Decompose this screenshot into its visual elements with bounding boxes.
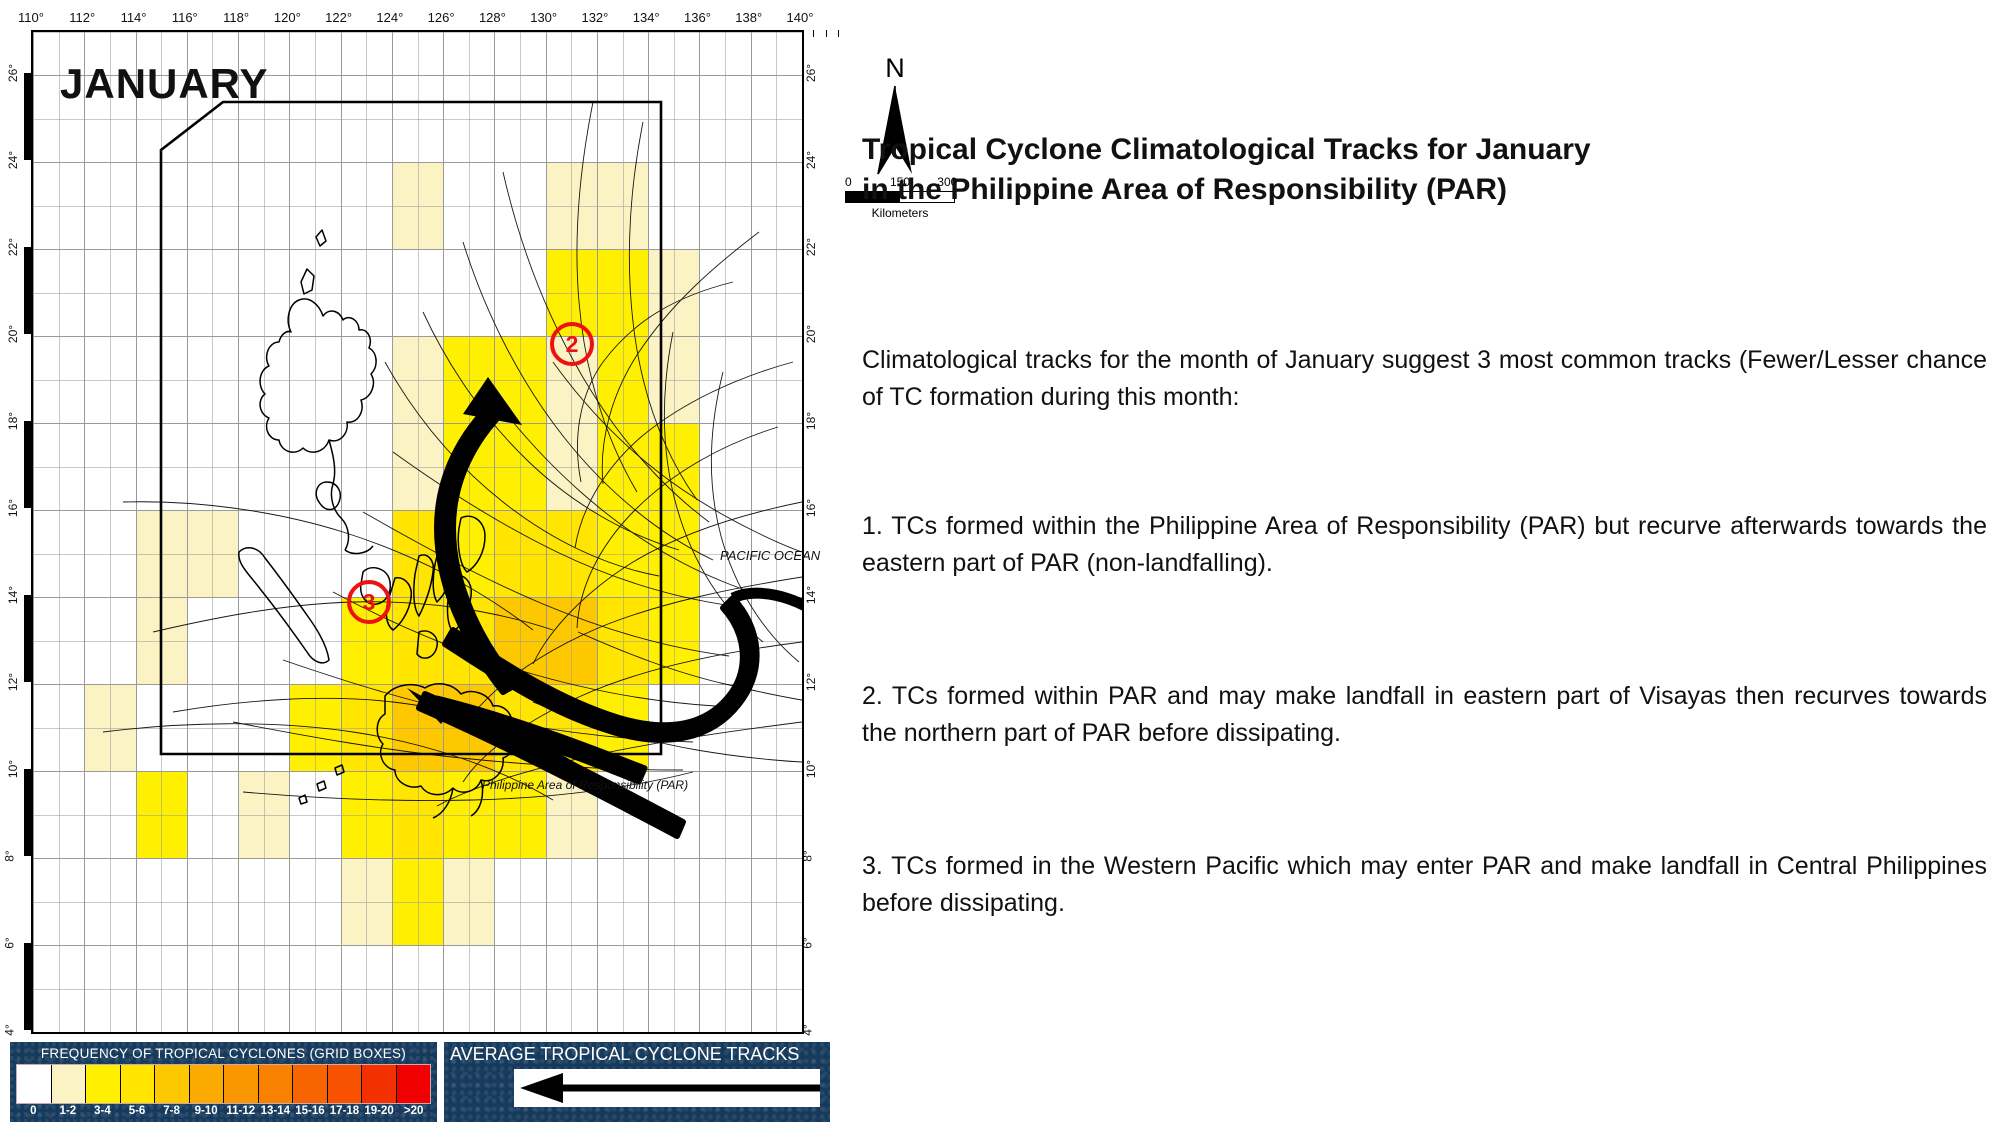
latitude-tick-label: 20°	[804, 325, 818, 343]
page-title-line2: in the Philippine Area of Responsibility…	[862, 173, 1507, 206]
latitude-tick-bar	[24, 160, 31, 247]
track-3-paragraph: 3. TCs formed in the Western Pacific whi…	[862, 848, 1987, 922]
intro-paragraph: Climatological tracks for the month of J…	[862, 342, 1987, 416]
longitude-tick-label: 130°	[530, 10, 557, 25]
pacific-ocean-label: PACIFIC OCEAN	[720, 548, 820, 563]
average-tracks-legend: AVERAGE TROPICAL CYCLONE TRACKS	[444, 1042, 830, 1122]
latitude-tick-bar	[24, 595, 31, 682]
scale-tick-0: 0	[845, 175, 852, 189]
longitude-tick-label: 128°	[479, 10, 506, 25]
track-marker-3-label: 3	[363, 591, 376, 614]
longitude-tick-label: 120°	[274, 10, 301, 25]
latitude-tick-label: 16°	[6, 499, 20, 517]
latitude-tick-label: 20°	[6, 325, 20, 343]
latitude-tick-label: 4°	[3, 1024, 17, 1035]
legend-swatch	[397, 1065, 431, 1103]
par-boundary	[161, 102, 661, 754]
map-panel: 110°112°114°116°118°120°122°124°126°128°…	[0, 0, 830, 1125]
legend-swatch	[328, 1065, 363, 1103]
latitude-tick-bar	[24, 682, 31, 769]
latitude-tick-label: 22°	[6, 238, 20, 256]
track-marker-3[interactable]: 3	[347, 580, 391, 624]
frequency-legend-swatches	[16, 1064, 431, 1104]
latitude-tick-bar	[24, 247, 31, 334]
longitude-tick-label: 138°	[735, 10, 762, 25]
month-label: JANUARY	[60, 60, 268, 108]
legend-swatch-label: 7-8	[154, 1105, 189, 1117]
latitude-tick-bar	[24, 856, 31, 943]
map-plot-area[interactable]: 1 2 3	[31, 30, 804, 1034]
latitude-tick-label: 26°	[804, 64, 818, 82]
longitude-tick-label: 114°	[121, 10, 147, 25]
gridline-vertical	[802, 32, 803, 1032]
page-title: Tropical Cyclone Climatological Tracks f…	[862, 130, 1992, 209]
latitude-tick-bar	[24, 334, 31, 421]
latitude-tick-label: 6°	[3, 937, 17, 948]
longitude-tick-label: 112°	[69, 10, 95, 25]
left-arrow-icon	[514, 1069, 820, 1107]
latitude-tick-bar	[24, 508, 31, 595]
latitude-tick-label: 24°	[6, 151, 20, 169]
gridline-horizontal	[33, 1032, 802, 1033]
legend-swatch-label: 0	[16, 1105, 51, 1117]
average-track-arrows	[407, 377, 802, 836]
track-marker-2-label: 2	[566, 333, 579, 356]
longitude-tick-label: 118°	[223, 10, 249, 25]
longitude-tick-label: 122°	[325, 10, 352, 25]
latitude-tick-label: 24°	[804, 151, 818, 169]
longitude-tick-label: 126°	[428, 10, 455, 25]
legend-swatch-label: 9-10	[189, 1105, 224, 1117]
latitude-tick-label: 18°	[804, 412, 818, 430]
latitude-tick-label: 26°	[6, 64, 20, 82]
map-plot-inner: 1 2 3	[33, 32, 802, 1032]
legend-swatch	[259, 1065, 294, 1103]
longitude-tick-label: 132°	[581, 10, 608, 25]
track-2-paragraph: 2. TCs formed within PAR and may make la…	[862, 678, 1987, 752]
latitude-tick-bar	[24, 943, 31, 1030]
frequency-legend-title: FREQUENCY OF TROPICAL CYCLONES (GRID BOX…	[10, 1042, 437, 1061]
longitude-tick-label: 124°	[376, 10, 403, 25]
track-marker-2[interactable]: 2	[550, 322, 594, 366]
latitude-tick-label: 12°	[6, 673, 20, 691]
legend-swatch	[155, 1065, 190, 1103]
latitude-tick-label: 22°	[804, 238, 818, 256]
legend-swatch-label: 17-18	[327, 1105, 362, 1117]
legend-swatch	[52, 1065, 87, 1103]
latitude-tick-label: 8°	[3, 850, 17, 861]
legend-swatch	[86, 1065, 121, 1103]
legend-swatch	[121, 1065, 156, 1103]
latitude-tick-label: 18°	[6, 412, 20, 430]
latitude-tick-bar	[24, 73, 31, 160]
longitude-minor-tick	[838, 30, 839, 37]
latitude-axis-left: 26°24°22°20°18°16°14°12°10°8°6°4°	[0, 0, 34, 1125]
par-boundary-label: Philippine Area of Responsibility (PAR)	[482, 778, 688, 792]
legend-swatch-label: 15-16	[293, 1105, 328, 1117]
latitude-tick-label: 10°	[804, 760, 818, 778]
legend-swatch-label: >20	[396, 1105, 431, 1117]
legend-swatch-label: 19-20	[362, 1105, 397, 1117]
legend-swatch-label: 11-12	[223, 1105, 258, 1117]
legend-swatch	[293, 1065, 328, 1103]
longitude-tick-label: 134°	[633, 10, 660, 25]
legend-swatch	[224, 1065, 259, 1103]
map-vector-layer	[33, 32, 802, 1032]
latitude-tick-label: 14°	[6, 586, 20, 604]
legend-swatch	[17, 1065, 52, 1103]
legend-swatch	[190, 1065, 225, 1103]
map-legends: FREQUENCY OF TROPICAL CYCLONES (GRID BOX…	[10, 1042, 830, 1122]
legend-swatch-label: 1-2	[51, 1105, 86, 1117]
latitude-tick-label: 10°	[6, 760, 20, 778]
legend-swatch-label: 5-6	[120, 1105, 155, 1117]
latitude-tick-bar	[24, 421, 31, 508]
legend-swatch	[362, 1065, 397, 1103]
page-title-line1: Tropical Cyclone Climatological Tracks f…	[862, 133, 1591, 166]
average-tracks-legend-title: AVERAGE TROPICAL CYCLONE TRACKS	[444, 1042, 830, 1065]
track-1-paragraph: 1. TCs formed within the Philippine Area…	[862, 508, 1987, 582]
latitude-tick-label: 12°	[804, 673, 818, 691]
longitude-tick-label: 136°	[684, 10, 711, 25]
frequency-legend-labels: 01-23-45-67-89-1011-1213-1415-1617-1819-…	[16, 1105, 431, 1117]
latitude-tick-bar	[24, 769, 31, 856]
average-track-arrow-sample	[514, 1069, 820, 1107]
description-panel: Tropical Cyclone Climatological Tracks f…	[852, 0, 2000, 1125]
latitude-tick-label: 14°	[804, 586, 818, 604]
frequency-legend: FREQUENCY OF TROPICAL CYCLONES (GRID BOX…	[10, 1042, 437, 1122]
longitude-tick-label: 116°	[172, 10, 198, 25]
latitude-tick-label: 16°	[804, 499, 818, 517]
legend-swatch-label: 13-14	[258, 1105, 293, 1117]
legend-swatch-label: 3-4	[85, 1105, 120, 1117]
